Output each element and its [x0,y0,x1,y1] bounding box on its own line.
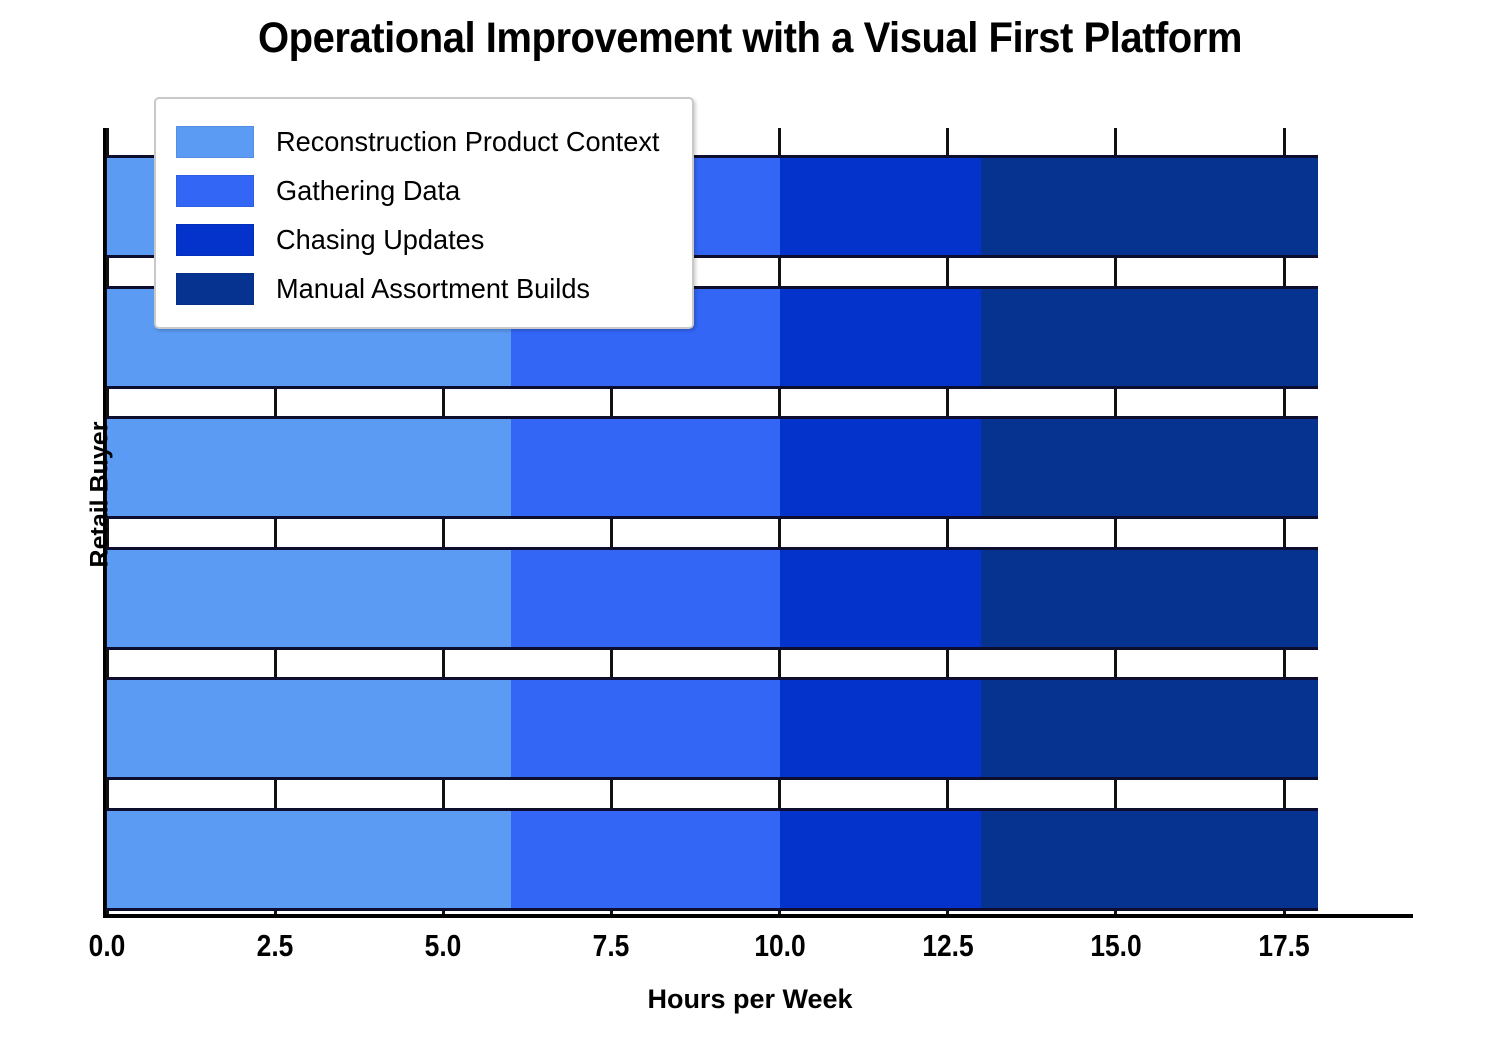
bar-segment[interactable] [780,811,982,908]
bar-segment[interactable] [981,158,1317,255]
bar-segment[interactable] [981,419,1317,516]
bar-row[interactable] [107,677,1318,780]
bar-row[interactable] [107,416,1318,519]
bar-segment[interactable] [107,811,511,908]
legend-swatch-icon [176,273,254,305]
x-tick-label: 12.5 [922,928,973,964]
legend-label: Chasing Updates [276,224,484,256]
bar-segment[interactable] [511,550,780,647]
bar-segment[interactable] [780,680,982,777]
bar-row[interactable] [107,547,1318,650]
x-tick-label: 7.5 [593,928,630,964]
bar-segment[interactable] [780,158,982,255]
bar-segment[interactable] [107,680,511,777]
x-tick-label: 0.0 [89,928,126,964]
x-tick-label: 15.0 [1090,928,1141,964]
legend-swatch-icon [176,126,254,158]
legend-swatch-icon [176,224,254,256]
legend-item[interactable]: Gathering Data [176,166,676,215]
bar-segment[interactable] [511,680,780,777]
x-tick-label: 17.5 [1258,928,1309,964]
legend-swatch-icon [176,175,254,207]
legend-label: Manual Assortment Builds [276,273,590,305]
y-axis-label: Retail Buyer [86,345,115,645]
x-tick-label: 10.0 [754,928,805,964]
chart-title: Operational Improvement with a Visual Fi… [53,14,1448,63]
x-axis-spine [103,914,1413,918]
bar-segment[interactable] [780,550,982,647]
x-tick-label: 2.5 [257,928,294,964]
chart-legend: Reconstruction Product ContextGathering … [154,97,694,329]
bar-segment[interactable] [981,289,1317,386]
bar-segment[interactable] [981,550,1317,647]
legend-item[interactable]: Chasing Updates [176,215,676,264]
bar-row[interactable] [107,808,1318,911]
bar-segment[interactable] [780,289,982,386]
legend-label: Reconstruction Product Context [276,126,659,158]
bar-segment[interactable] [981,811,1317,908]
x-axis-label: Hours per Week [0,984,1500,1015]
bar-segment[interactable] [511,811,780,908]
bar-segment[interactable] [780,419,982,516]
x-tick-label: 5.0 [425,928,462,964]
legend-label: Gathering Data [276,175,460,207]
legend-item[interactable]: Reconstruction Product Context [176,117,676,166]
bar-segment[interactable] [981,680,1317,777]
bar-segment[interactable] [511,419,780,516]
legend-item[interactable]: Manual Assortment Builds [176,264,676,313]
bar-segment[interactable] [107,419,511,516]
bar-segment[interactable] [107,550,511,647]
